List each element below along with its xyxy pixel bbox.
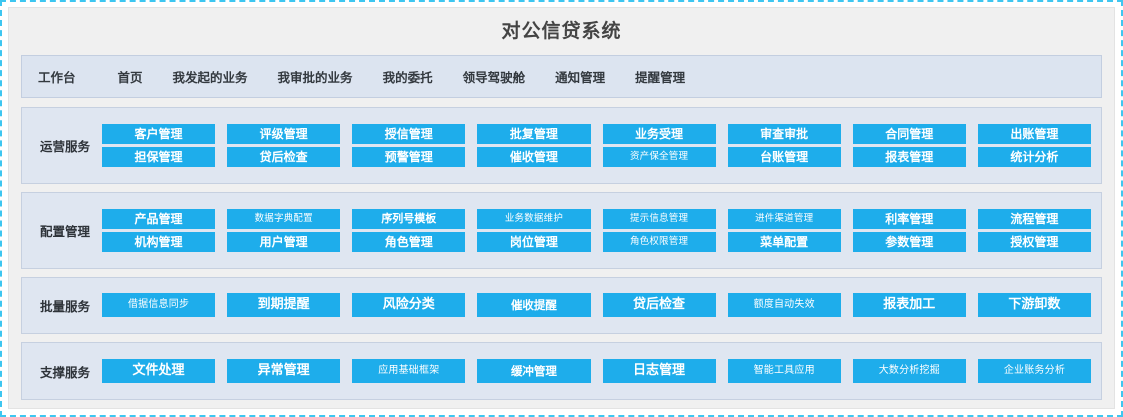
module-tile[interactable]: 担保管理 xyxy=(102,147,215,167)
nav-item-2[interactable]: 首页 xyxy=(118,67,143,86)
category-tile-grid: 借据信息同步到期提醒风险分类催收提醒贷后检查额度自动失效报表加工下游卸数 xyxy=(102,293,1091,317)
nav-item-6[interactable]: 领导驾驶舱 xyxy=(463,67,526,86)
nav-item-8[interactable]: 提醒管理 xyxy=(635,67,685,86)
module-tile[interactable]: 参数管理 xyxy=(853,232,966,252)
module-tile[interactable]: 日志管理 xyxy=(603,359,716,383)
module-tile[interactable]: 合同管理 xyxy=(853,124,966,144)
module-tile[interactable]: 授权管理 xyxy=(978,232,1091,252)
module-tile[interactable]: 进件渠道管理 xyxy=(728,209,841,229)
module-tile[interactable]: 智能工具应用 xyxy=(728,359,841,383)
module-tile[interactable]: 序列号模板 xyxy=(352,209,465,229)
module-tile[interactable]: 资产保全管理 xyxy=(603,147,716,167)
category-label: 运营服务 xyxy=(28,136,102,155)
nav-item-5[interactable]: 我的委托 xyxy=(383,67,433,86)
category-label: 支撑服务 xyxy=(28,362,102,381)
category-row: 运营服务客户管理评级管理授信管理批复管理业务受理审查审批合同管理出账管理担保管理… xyxy=(21,107,1102,184)
module-tile[interactable]: 到期提醒 xyxy=(227,293,340,317)
module-tile[interactable]: 贷后检查 xyxy=(603,293,716,317)
module-tile[interactable]: 提示信息管理 xyxy=(603,209,716,229)
module-tile[interactable]: 菜单配置 xyxy=(728,232,841,252)
module-tile[interactable]: 报表管理 xyxy=(853,147,966,167)
module-tile[interactable]: 借据信息同步 xyxy=(102,293,215,317)
app-panel: 对公信贷系统 工作台首页我发起的业务我审批的业务我的委托领导驾驶舱通知管理提醒管… xyxy=(8,7,1115,409)
module-tile[interactable]: 岗位管理 xyxy=(477,232,590,252)
module-tile[interactable]: 报表加工 xyxy=(853,293,966,317)
module-tile[interactable]: 额度自动失效 xyxy=(728,293,841,317)
page-title: 对公信贷系统 xyxy=(21,8,1102,55)
category-row: 支撑服务文件处理异常管理应用基础框架缓冲管理日志管理智能工具应用大数分析挖掘企业… xyxy=(21,342,1102,400)
module-tile[interactable]: 用户管理 xyxy=(227,232,340,252)
module-tile[interactable]: 台账管理 xyxy=(728,147,841,167)
module-tile[interactable]: 业务数据维护 xyxy=(477,209,590,229)
module-tile[interactable]: 催收提醒 xyxy=(477,293,590,317)
category-label: 批量服务 xyxy=(28,296,102,315)
main-navigation-bar: 工作台首页我发起的业务我审批的业务我的委托领导驾驶舱通知管理提醒管理 xyxy=(21,55,1102,98)
module-tile[interactable]: 业务受理 xyxy=(603,124,716,144)
category-row: 配置管理产品管理数据字典配置序列号模板业务数据维护提示信息管理进件渠道管理利率管… xyxy=(21,192,1102,269)
category-tile-grid: 产品管理数据字典配置序列号模板业务数据维护提示信息管理进件渠道管理利率管理流程管… xyxy=(102,209,1091,252)
module-tile[interactable]: 客户管理 xyxy=(102,124,215,144)
module-category-list: 运营服务客户管理评级管理授信管理批复管理业务受理审查审批合同管理出账管理担保管理… xyxy=(21,107,1102,400)
module-tile[interactable]: 风险分类 xyxy=(352,293,465,317)
module-tile[interactable]: 应用基础框架 xyxy=(352,359,465,383)
module-tile[interactable]: 缓冲管理 xyxy=(477,359,590,383)
module-tile[interactable]: 授信管理 xyxy=(352,124,465,144)
app-window: 对公信贷系统 工作台首页我发起的业务我审批的业务我的委托领导驾驶舱通知管理提醒管… xyxy=(0,0,1123,417)
category-label: 配置管理 xyxy=(28,221,102,240)
nav-item-3[interactable]: 我发起的业务 xyxy=(173,67,248,86)
module-tile[interactable]: 产品管理 xyxy=(102,209,215,229)
module-tile[interactable]: 下游卸数 xyxy=(978,293,1091,317)
module-tile[interactable]: 贷后检查 xyxy=(227,147,340,167)
module-tile[interactable]: 角色管理 xyxy=(352,232,465,252)
category-tile-grid: 客户管理评级管理授信管理批复管理业务受理审查审批合同管理出账管理担保管理贷后检查… xyxy=(102,124,1091,167)
module-tile[interactable]: 异常管理 xyxy=(227,359,340,383)
category-row: 批量服务借据信息同步到期提醒风险分类催收提醒贷后检查额度自动失效报表加工下游卸数 xyxy=(21,277,1102,335)
nav-item-7[interactable]: 通知管理 xyxy=(555,67,605,86)
module-tile[interactable]: 利率管理 xyxy=(853,209,966,229)
module-tile[interactable]: 审查审批 xyxy=(728,124,841,144)
module-tile[interactable]: 统计分析 xyxy=(978,147,1091,167)
nav-item-4[interactable]: 我审批的业务 xyxy=(278,67,353,86)
module-tile[interactable]: 数据字典配置 xyxy=(227,209,340,229)
module-tile[interactable]: 评级管理 xyxy=(227,124,340,144)
module-tile[interactable]: 预警管理 xyxy=(352,147,465,167)
module-tile[interactable]: 流程管理 xyxy=(978,209,1091,229)
module-tile[interactable]: 角色权限管理 xyxy=(603,232,716,252)
module-tile[interactable]: 出账管理 xyxy=(978,124,1091,144)
module-tile[interactable]: 批复管理 xyxy=(477,124,590,144)
module-tile[interactable]: 机构管理 xyxy=(102,232,215,252)
module-tile[interactable]: 企业账务分析 xyxy=(978,359,1091,383)
module-tile[interactable]: 催收管理 xyxy=(477,147,590,167)
category-tile-grid: 文件处理异常管理应用基础框架缓冲管理日志管理智能工具应用大数分析挖掘企业账务分析 xyxy=(102,359,1091,383)
module-tile[interactable]: 大数分析挖掘 xyxy=(853,359,966,383)
module-tile[interactable]: 文件处理 xyxy=(102,359,215,383)
nav-item-1[interactable]: 工作台 xyxy=(38,67,76,86)
